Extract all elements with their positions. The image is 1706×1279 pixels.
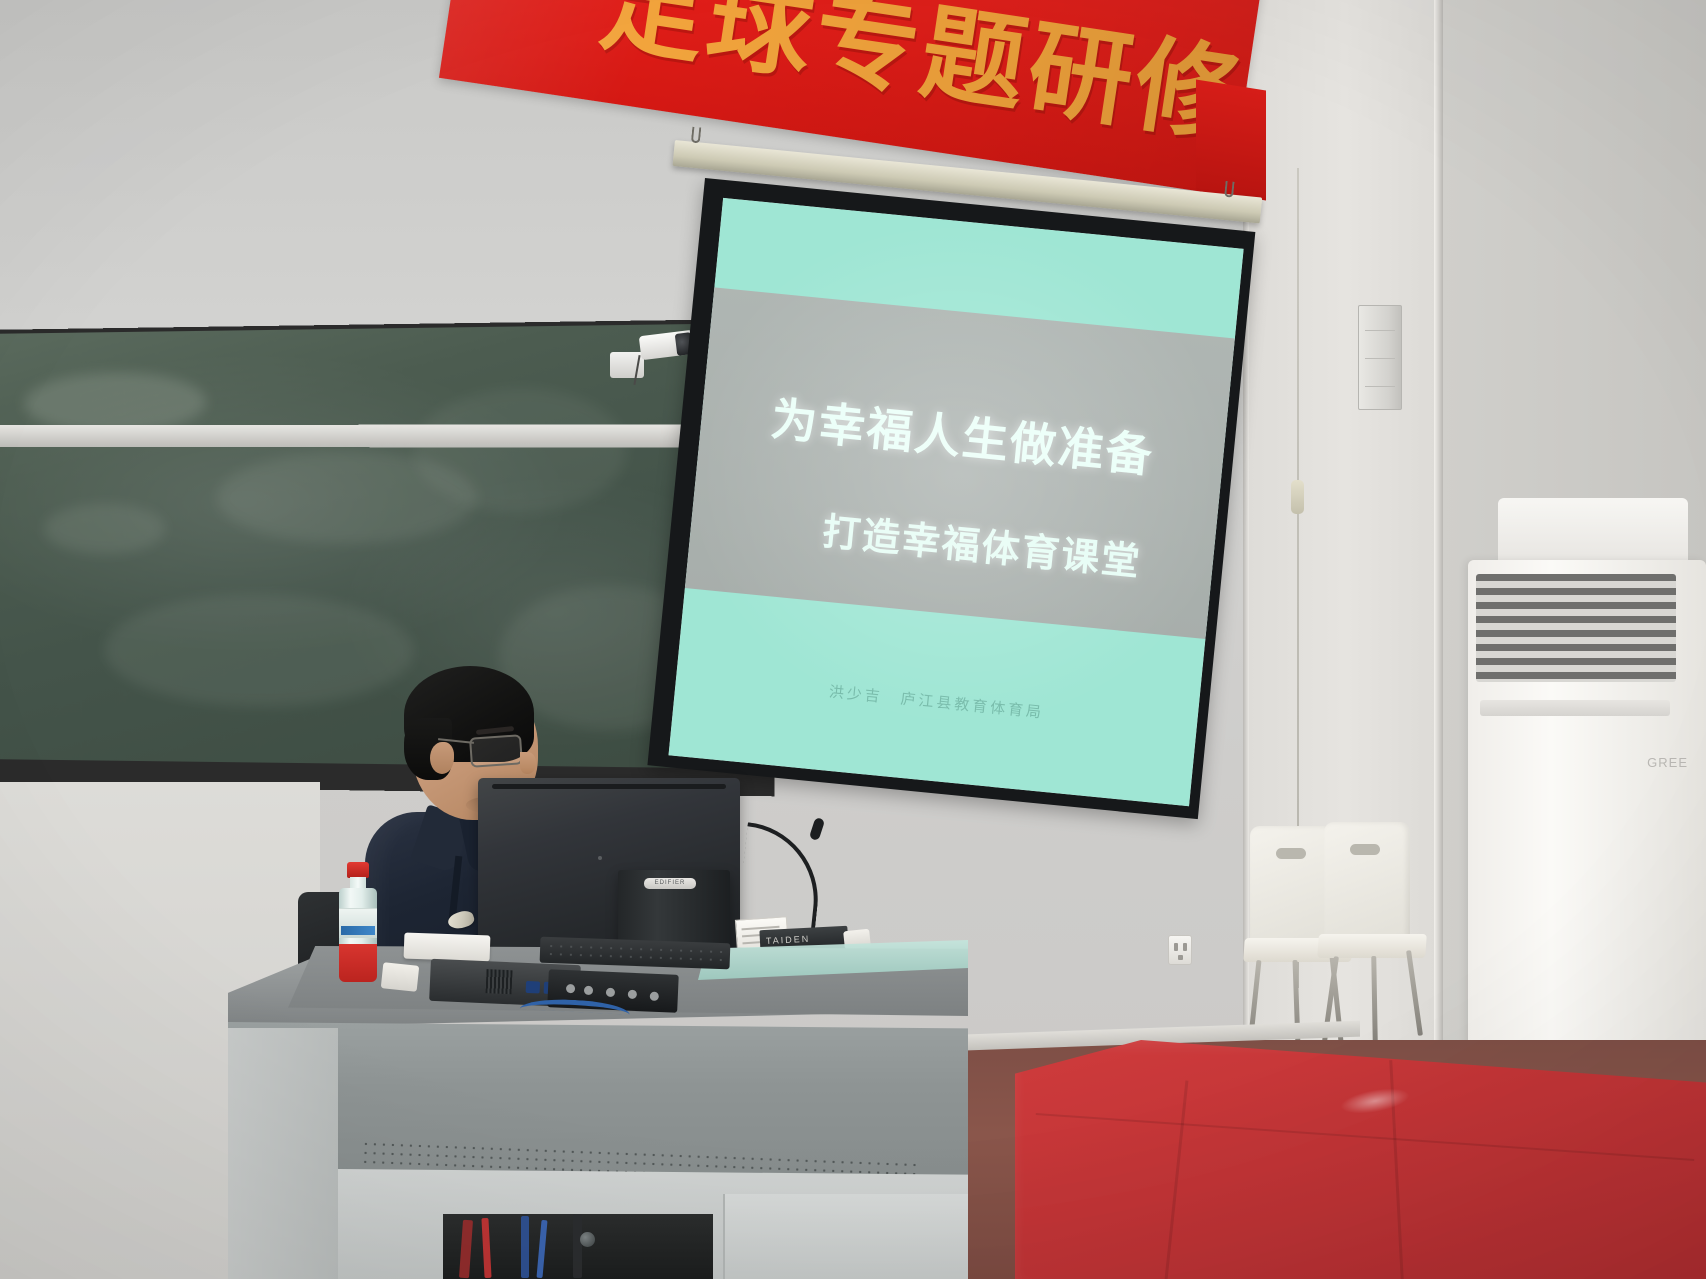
monitor-top-strip bbox=[492, 784, 726, 789]
bottle-label-stripe bbox=[341, 926, 375, 935]
red-stage-platform bbox=[1015, 1040, 1706, 1279]
projection-screen: 为幸福人生做准备 打造幸福体育课堂 洪少吉 庐江县教育体育局 bbox=[647, 178, 1255, 819]
slide-author-line: 洪少吉 庐江县教育体育局 bbox=[675, 666, 1198, 738]
chair-handle-slot bbox=[1350, 844, 1380, 855]
chair-backrest bbox=[1324, 822, 1410, 940]
screen-pull-cord-bead[interactable] bbox=[1291, 480, 1304, 514]
chair-handle-slot bbox=[1276, 848, 1306, 859]
wall-column-edge-right bbox=[1434, 0, 1443, 1060]
projection-screen-surface: 为幸福人生做准备 打造幸福体育课堂 洪少吉 庐江县教育体育局 bbox=[669, 198, 1244, 806]
chalkboard-ledge bbox=[0, 424, 767, 447]
white-power-adapter bbox=[381, 962, 420, 992]
podium-left-column bbox=[228, 1028, 338, 1279]
bottle-label-red-band bbox=[339, 944, 377, 982]
bottle-cap bbox=[347, 862, 369, 878]
air-conditioner: GREE bbox=[1468, 560, 1706, 1065]
speaker-brand-badge: EDIFIER bbox=[644, 878, 696, 889]
monitor-indicator-dot bbox=[598, 856, 602, 860]
classroom-chair-2 bbox=[1324, 822, 1410, 940]
white-device-box bbox=[404, 933, 491, 962]
presenter-ear bbox=[430, 742, 454, 774]
wall-power-outlet[interactable] bbox=[1168, 935, 1192, 965]
air-conditioner-grille bbox=[1476, 574, 1676, 682]
amplifier-vent bbox=[486, 969, 513, 994]
water-bottle bbox=[338, 862, 378, 982]
glasses-icon bbox=[469, 734, 523, 768]
classroom-photo-scene: 足球专题研修班 为幸福人生做准备 打造幸福体育课堂 洪少吉 庐江县教育体育 bbox=[0, 0, 1706, 1279]
podium-front-panel bbox=[228, 1022, 968, 1182]
podium-cable-opening bbox=[443, 1214, 713, 1279]
air-conditioner-display-panel[interactable] bbox=[1480, 700, 1670, 716]
wall-mounted-control-box[interactable] bbox=[1358, 305, 1402, 410]
cabinet-lock-icon[interactable] bbox=[580, 1232, 595, 1247]
keyboard-keys[interactable] bbox=[546, 942, 724, 964]
podium-cabinet-door[interactable] bbox=[723, 1194, 968, 1279]
air-conditioner-top-cap bbox=[1498, 498, 1688, 562]
presenter-nose bbox=[520, 752, 536, 774]
air-conditioner-logo: GREE bbox=[1647, 755, 1688, 770]
slide-background: 为幸福人生做准备 打造幸福体育课堂 洪少吉 庐江县教育体育局 bbox=[669, 198, 1244, 806]
